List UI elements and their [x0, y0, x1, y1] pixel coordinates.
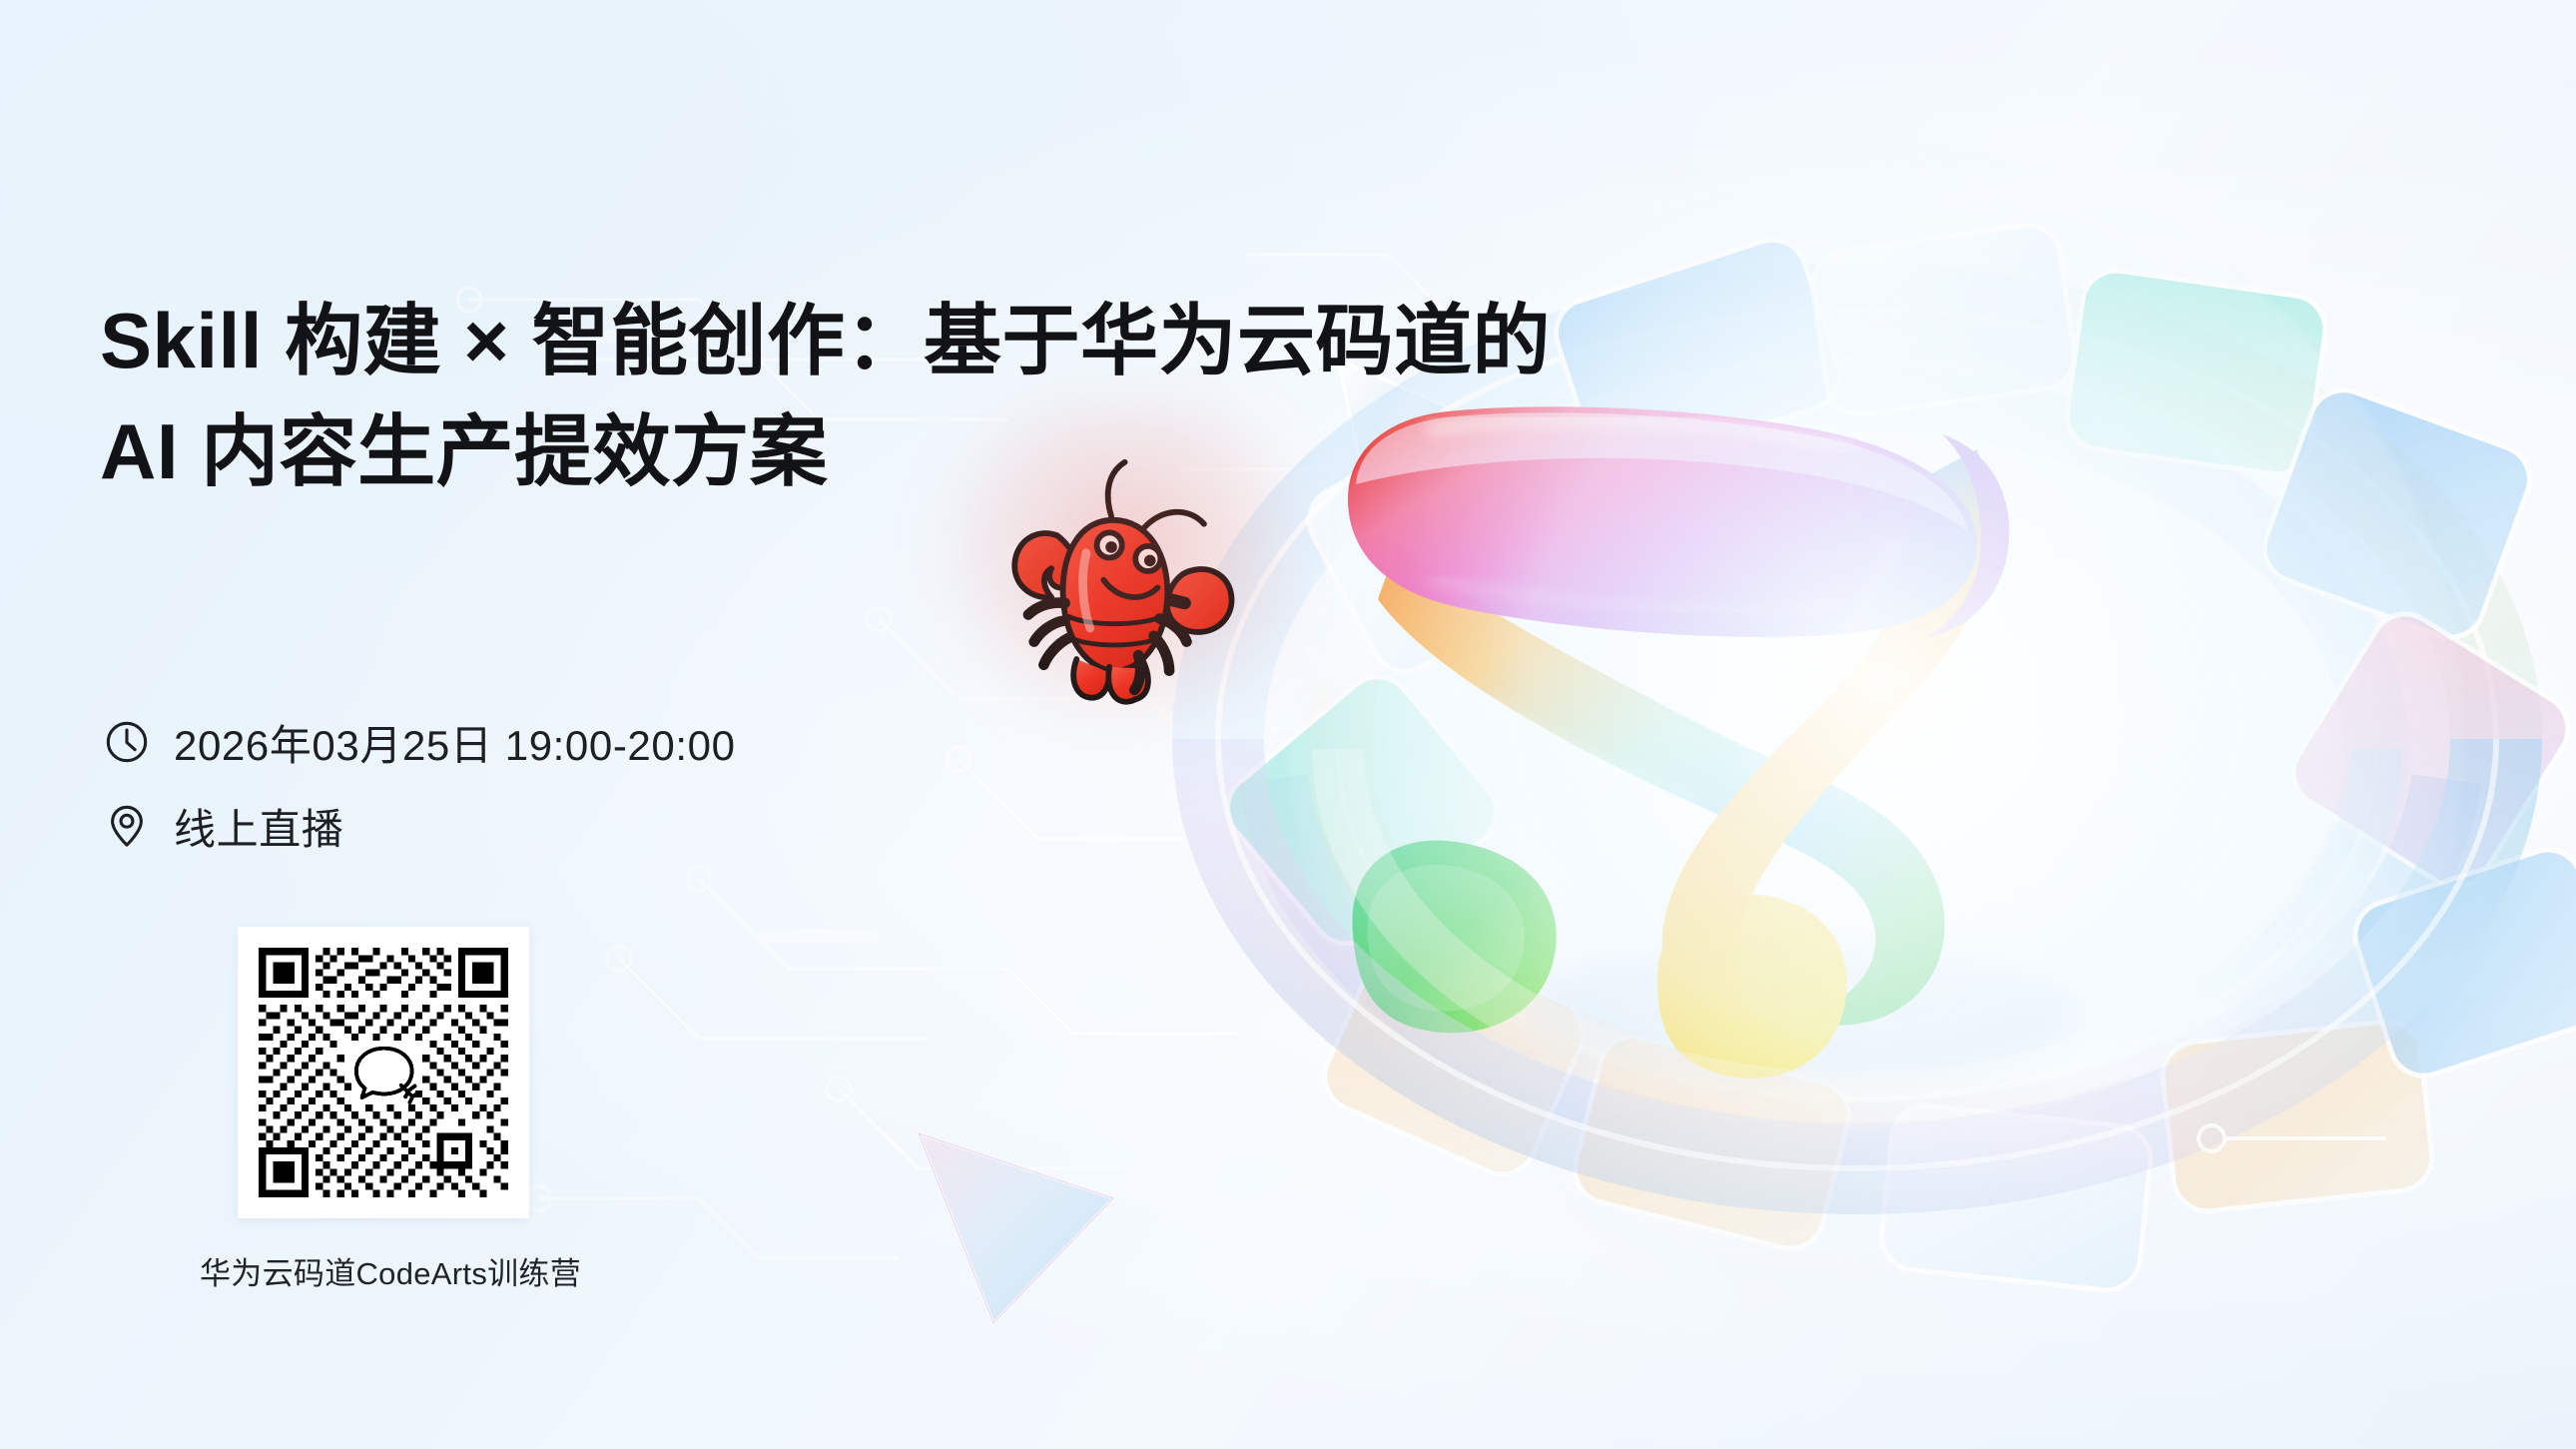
- poster-canvas: Skill 构建 × 智能创作：基于华为云码道的 AI 内容生产提效方案 202…: [0, 0, 2576, 1449]
- qr-code[interactable]: [238, 927, 529, 1218]
- node-connector: [2199, 1125, 2386, 1151]
- lobster-emoji: [968, 427, 1258, 717]
- qr-code-matrix: [252, 941, 515, 1204]
- glass-ring-mid: [1338, 399, 2376, 1098]
- clock-icon: [104, 719, 150, 765]
- event-location: 线上直播: [174, 796, 343, 857]
- qr-section: 华为云码道CodeArts训练营: [238, 927, 529, 1293]
- location-pin-icon: [104, 803, 150, 849]
- event-location-row: 线上直播: [104, 795, 736, 857]
- event-datetime-row: 2026年03月25日 19:00-20:00: [104, 711, 736, 773]
- lobster-glow: [929, 397, 1288, 737]
- ribbon-sculpture: [1348, 406, 2077, 1084]
- event-datetime: 2026年03月25日 19:00-20:00: [174, 712, 736, 773]
- title-line-1: Skill 构建 × 智能创作：基于华为云码道的: [100, 286, 1298, 396]
- glass-ring-front: [1218, 739, 2496, 1168]
- qr-caption: 华为云码道CodeArts训练营: [200, 1248, 491, 1293]
- event-meta: 2026年03月25日 19:00-20:00 线上直播: [104, 711, 736, 879]
- glass-ring-outer: [1218, 310, 2496, 1168]
